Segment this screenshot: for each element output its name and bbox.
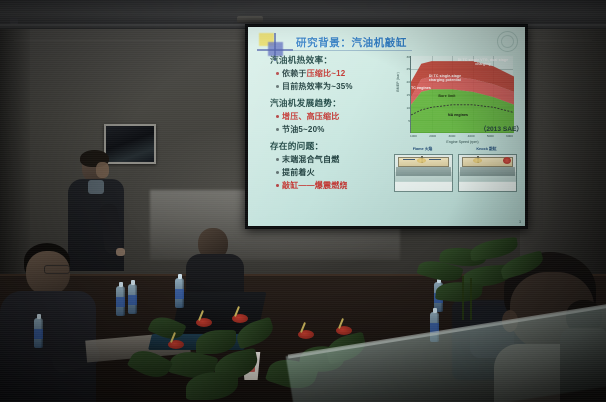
- chart-annotation: DI TC single VTG, dual stage charging: [457, 58, 509, 66]
- engine-diagrams: Flame 火焰 Knock 敲缸: [394, 147, 518, 193]
- chart-x-tick: 1000: [410, 134, 417, 138]
- slide-group-problems: 存在的问题： 末端混合气自燃 提前着火 敲缸——爆震燃烧: [268, 140, 390, 191]
- bullet-dot-icon: [276, 128, 279, 131]
- bullet-dot-icon: [276, 184, 279, 187]
- diagram-caption-flame: Flame 火焰: [394, 147, 451, 152]
- flame-arrow-right-icon: [429, 159, 441, 160]
- bullet-text: 提前着火: [282, 167, 315, 178]
- bullet-text: 节油5~20%: [282, 124, 325, 135]
- flame-front-icon: [473, 158, 482, 163]
- conference-room-scene: 研究背景：汽油机敲缸 汽油机热效率： 依赖于压缩比~12 目前热效率为~35%: [0, 0, 606, 402]
- bullet-item: 末端混合气自燃: [276, 154, 390, 165]
- flame-front-icon: [417, 158, 426, 163]
- bullet-text: 目前热效率为~35%: [282, 81, 353, 92]
- bullet-item: 依赖于压缩比~12: [276, 68, 390, 79]
- university-seal-icon: [497, 31, 518, 52]
- bullet-item: 增压、高压缩比: [276, 111, 390, 122]
- bullet-text: 依赖于压缩比~12: [282, 68, 345, 79]
- chart-series-group: [411, 56, 514, 133]
- slide-group-trend: 汽油机发展趋势： 增压、高压缩比 节油5~20%: [268, 97, 390, 135]
- bullet-dot-icon: [276, 72, 279, 75]
- slide-title: 研究背景：汽油机敲缸: [296, 35, 407, 50]
- projection-screen: 研究背景：汽油机敲缸 汽油机热效率： 依赖于压缩比~12 目前热效率为~35%: [248, 27, 525, 226]
- slide-body-column: 汽油机热效率： 依赖于压缩比~12 目前热效率为~35% 汽油机发展趋势： 增压…: [268, 54, 390, 196]
- chart-x-tick: 5000: [487, 134, 494, 138]
- wall-right-section: [520, 29, 606, 279]
- chart-x-axis-label: Engine Speed (rpm): [410, 140, 515, 144]
- chart-x-tick: 4000: [468, 134, 475, 138]
- diagram-caption-knock: Knock 敲缸: [458, 147, 515, 152]
- bullet-text: 敲缸——爆震燃烧: [282, 180, 348, 191]
- slide-group-efficiency: 汽油机热效率： 依赖于压缩比~12 目前热效率为~35%: [268, 54, 390, 92]
- water-bottle: [175, 278, 184, 308]
- slide-page-number: 3: [519, 220, 521, 224]
- eyeglasses-icon: [44, 265, 70, 274]
- slide-title-underline: [292, 50, 412, 51]
- bullet-item: 敲缸——爆震燃烧: [276, 180, 390, 191]
- bullet-dot-icon: [276, 158, 279, 161]
- chart-y-ticks: 51015202530: [401, 56, 410, 133]
- piston: [396, 167, 451, 176]
- chart-annotation: DI TC single-stage charging potential: [425, 74, 465, 82]
- diagram-normal-combustion: [394, 154, 453, 192]
- ceiling: [0, 0, 606, 26]
- chart-annotation: Bore limit: [433, 94, 461, 98]
- chart-annotation: NA engines: [445, 113, 471, 117]
- attendee-front-left: [0, 243, 96, 402]
- knock-autoignition-icon: [503, 157, 511, 164]
- chart-x-tick: 2000: [429, 134, 436, 138]
- bullet-item: 提前着火: [276, 167, 390, 178]
- screen-roller-case: [237, 16, 263, 23]
- water-bottle: [128, 284, 137, 314]
- piston: [460, 167, 515, 176]
- bullet-text: 末端混合气自燃: [282, 154, 339, 165]
- wall-left-shadow: [0, 29, 30, 279]
- presenter-face: [96, 162, 109, 178]
- diagram-knocking-combustion: [458, 154, 517, 192]
- chart-annotation: TC engines: [409, 86, 433, 90]
- water-bottle: [34, 318, 43, 348]
- bullet-dot-icon: [276, 171, 279, 174]
- chart-citation: （2013 SAE）: [480, 123, 523, 133]
- bullet-dot-icon: [276, 85, 279, 88]
- bullet-dot-icon: [276, 115, 279, 118]
- group-heading: 汽油机发展趋势：: [270, 97, 390, 109]
- projection-screen-frame: 研究背景：汽油机敲缸 汽油机热效率： 依赖于压缩比~12 目前热效率为~35%: [245, 24, 528, 229]
- bullet-text: 增压、高压缩比: [282, 111, 339, 122]
- flame-arrow-left-icon: [403, 159, 415, 160]
- chart-x-tick: 3000: [448, 134, 455, 138]
- presenter-hand: [116, 248, 125, 256]
- bullet-item: 目前热效率为~35%: [276, 81, 390, 92]
- chart-plot-area: DI TC single VTG, dual stage chargingDI …: [410, 56, 513, 133]
- bullet-item: 节油5~20%: [276, 124, 390, 135]
- chart-x-tick: 6000: [506, 134, 513, 138]
- water-bottle: [116, 286, 125, 316]
- presenter-collar: [88, 180, 104, 194]
- group-heading: 存在的问题：: [270, 140, 390, 152]
- chart-x-ticks: 100020003000400050006000: [410, 134, 513, 138]
- group-heading: 汽油机热效率：: [270, 54, 390, 66]
- wall-speaker: [10, 18, 18, 24]
